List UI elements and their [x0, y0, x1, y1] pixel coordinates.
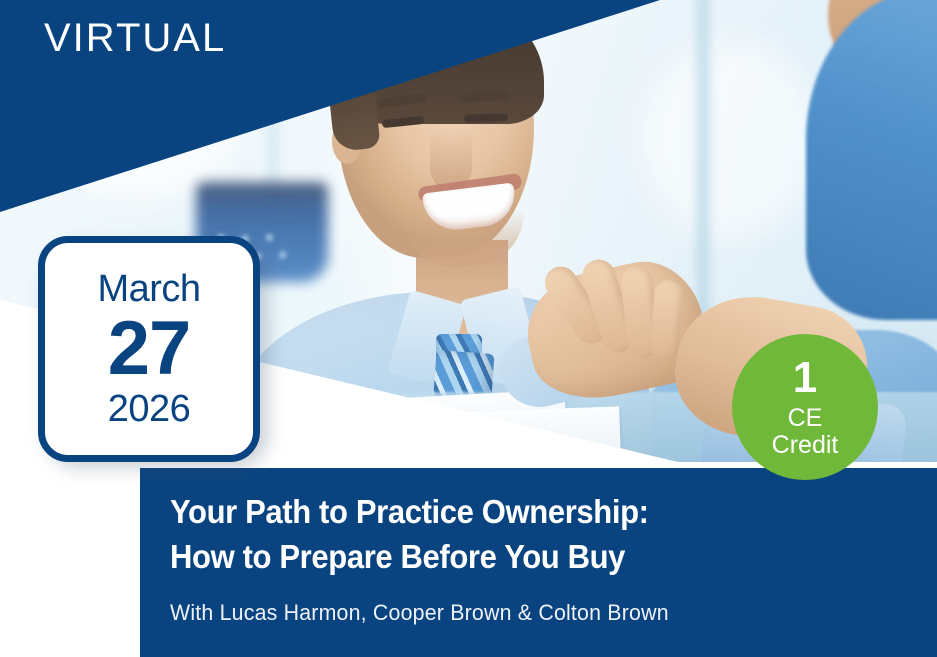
ce-credit-word: Credit: [772, 432, 839, 458]
session-title-line1: Your Path to Practice Ownership:: [170, 493, 649, 530]
presenters-line: With Lucas Harmon, Cooper Brown & Colton…: [170, 600, 888, 626]
date-month: March: [97, 270, 200, 308]
virtual-label: VIRTUAL: [44, 18, 226, 58]
ce-credit-unit: CE: [788, 405, 823, 431]
date-card: March 27 2026: [38, 236, 260, 462]
ce-credit-number: 1: [793, 356, 817, 400]
session-title: Your Path to Practice Ownership: How to …: [170, 490, 866, 580]
webinar-promo-poster: VIRTUAL Your Path to Practice Ownership:…: [0, 0, 937, 657]
background-light-blob: [640, 40, 820, 240]
ce-credit-badge: 1 CE Credit: [732, 334, 878, 480]
date-day: 27: [108, 310, 191, 388]
date-year: 2026: [108, 390, 191, 428]
content-panel: Your Path to Practice Ownership: How to …: [140, 468, 937, 657]
presenter-eye-right: [464, 113, 508, 123]
session-title-line2: How to Prepare Before You Buy: [170, 535, 866, 580]
